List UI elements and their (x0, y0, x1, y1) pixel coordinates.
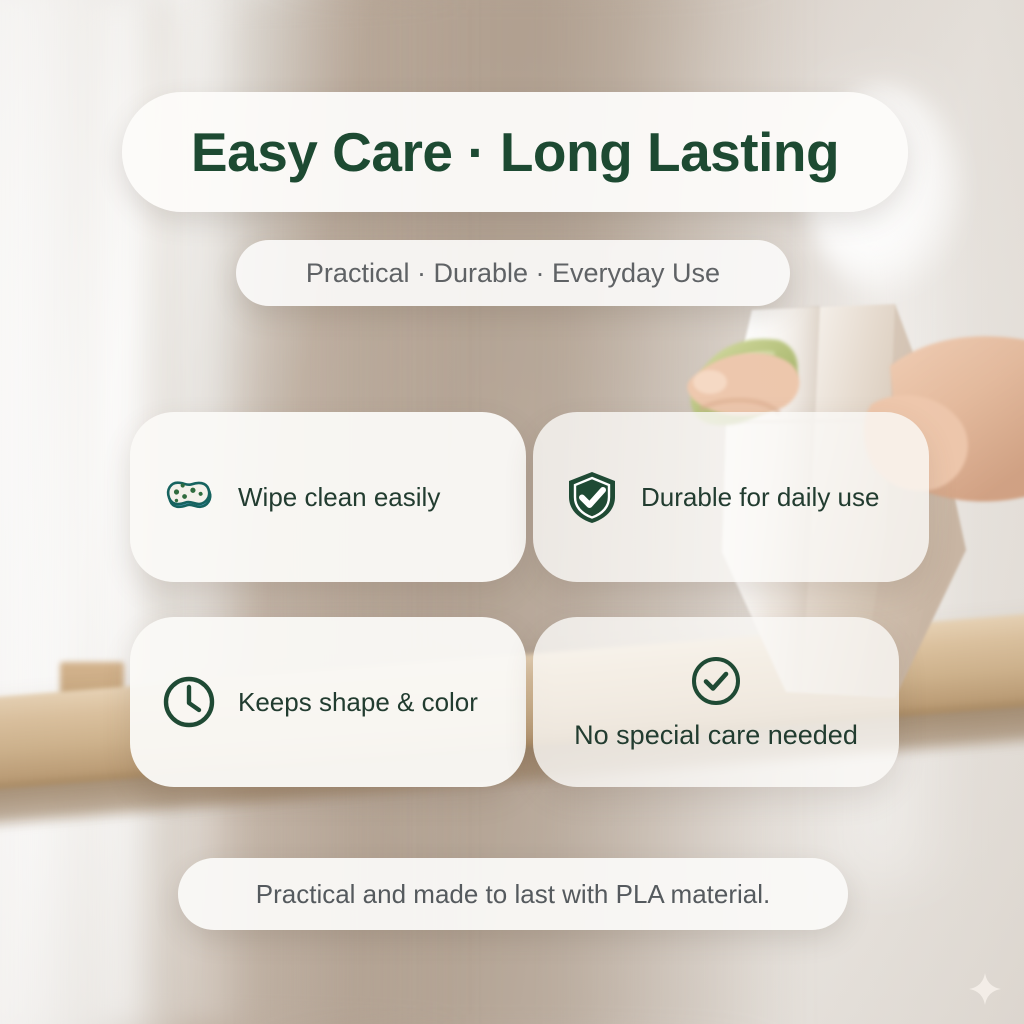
shield-check-icon (563, 468, 621, 526)
feature-card-durable[interactable]: Durable for daily use (533, 412, 929, 582)
feature-label: Durable for daily use (641, 482, 879, 513)
title-pill: Easy Care · Long Lasting (122, 92, 908, 212)
subtitle-pill: Practical · Durable · Everyday Use (236, 240, 790, 306)
feature-card-wipe-clean[interactable]: Wipe clean easily (130, 412, 526, 582)
page-subtitle: Practical · Durable · Everyday Use (306, 258, 720, 289)
feature-card-keeps-shape[interactable]: Keeps shape & color (130, 617, 526, 787)
feature-card-no-special-care[interactable]: No special care needed (533, 617, 899, 787)
clock-icon (160, 673, 218, 731)
sparkle-icon (968, 972, 1002, 1006)
overlay-content: Easy Care · Long Lasting Practical · Dur… (0, 0, 1024, 1024)
feature-label: Wipe clean easily (238, 482, 440, 513)
feature-label: No special care needed (574, 720, 858, 751)
page-title: Easy Care · Long Lasting (191, 120, 839, 184)
sponge-icon (160, 468, 218, 526)
check-circle-icon (689, 654, 743, 708)
feature-label: Keeps shape & color (238, 687, 478, 718)
footer-pill: Practical and made to last with PLA mate… (178, 858, 848, 930)
promo-graphic: Easy Care · Long Lasting Practical · Dur… (0, 0, 1024, 1024)
footer-note: Practical and made to last with PLA mate… (256, 879, 770, 910)
